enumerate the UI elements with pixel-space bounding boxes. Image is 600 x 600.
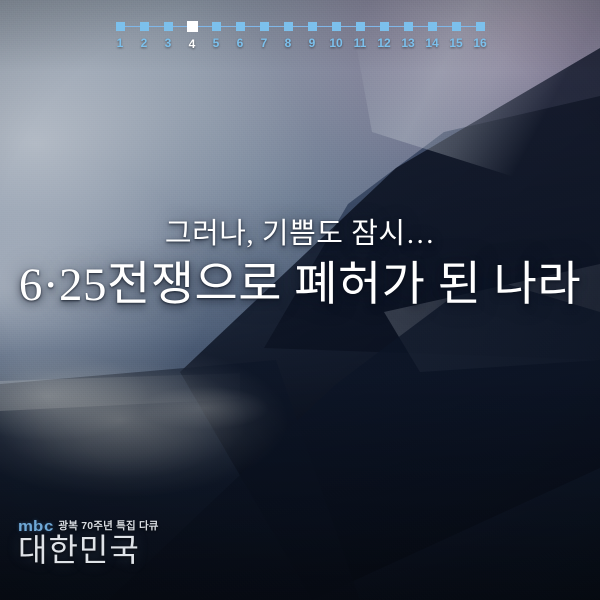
pagination-number: 16	[473, 37, 486, 49]
pagination-number: 5	[213, 37, 220, 49]
pagination-item-1[interactable]: 1	[108, 22, 132, 49]
pagination-item-5[interactable]: 5	[204, 22, 228, 49]
pagination-number: 4	[189, 38, 196, 50]
headline-title: 6·25전쟁으로 폐허가 된 나라	[0, 258, 600, 312]
pagination-square-icon	[140, 22, 149, 31]
slide-pagination[interactable]: 12345678910111213141516	[0, 22, 600, 50]
pagination-item-2[interactable]: 2	[132, 22, 156, 49]
pagination-number: 11	[354, 37, 367, 49]
pagination-number: 3	[165, 37, 172, 49]
pagination-item-8[interactable]: 8	[276, 22, 300, 49]
pagination-square-icon	[212, 22, 221, 31]
mbc-logo-icon: mbc	[18, 521, 51, 532]
pagination-item-7[interactable]: 7	[252, 22, 276, 49]
pagination-number: 13	[401, 37, 414, 49]
headline-block: 그러나, 기쁨도 잠시… 6·25전쟁으로 폐허가 된 나라	[0, 216, 600, 312]
pagination-number: 8	[285, 37, 292, 49]
pagination-item-4[interactable]: 4	[180, 22, 204, 50]
pagination-number: 6	[237, 37, 244, 49]
pagination-item-3[interactable]: 3	[156, 22, 180, 49]
pagination-number: 1	[117, 37, 124, 49]
pagination-square-icon	[428, 22, 437, 31]
pagination-square-icon	[308, 22, 317, 31]
pagination-number: 7	[261, 37, 268, 49]
pagination-square-icon	[476, 22, 485, 31]
pagination-square-icon	[380, 22, 389, 31]
brand-tagline: 광복 70주년 특집 다큐	[58, 521, 158, 532]
pagination-square-icon	[452, 22, 461, 31]
pagination-track: 12345678910111213141516	[108, 22, 492, 50]
pagination-item-10[interactable]: 10	[324, 22, 348, 49]
pagination-number: 2	[141, 37, 148, 49]
brand-top-row: mbc 광복 70주년 특집 다큐	[18, 521, 159, 532]
pagination-number: 12	[377, 37, 390, 49]
pagination-item-13[interactable]: 13	[396, 22, 420, 49]
pagination-square-icon	[260, 22, 269, 31]
mbc-letter-c: c	[44, 521, 53, 532]
mbc-letter-b: b	[33, 521, 43, 532]
pagination-item-9[interactable]: 9	[300, 22, 324, 49]
pagination-square-icon	[164, 22, 173, 31]
pagination-square-icon	[404, 22, 413, 31]
pagination-square-icon	[236, 22, 245, 31]
pagination-item-15[interactable]: 15	[444, 22, 468, 49]
headline-subtitle: 그러나, 기쁨도 잠시…	[0, 216, 600, 252]
pagination-square-icon	[187, 21, 198, 32]
program-title: 대한민국	[18, 534, 159, 568]
pagination-item-12[interactable]: 12	[372, 22, 396, 49]
pagination-item-16[interactable]: 16	[468, 22, 492, 49]
pagination-item-11[interactable]: 11	[348, 22, 372, 49]
slide-card: 12345678910111213141516 그러나, 기쁨도 잠시… 6·2…	[0, 0, 600, 600]
pagination-square-icon	[332, 22, 341, 31]
pagination-square-icon	[284, 22, 293, 31]
pagination-number: 15	[449, 37, 462, 49]
pagination-square-icon	[116, 22, 125, 31]
pagination-item-14[interactable]: 14	[420, 22, 444, 49]
pagination-number: 10	[329, 37, 342, 49]
pagination-number: 14	[425, 37, 438, 49]
brand-lockup: mbc 광복 70주년 특집 다큐 대한민국	[18, 521, 159, 568]
pagination-number: 9	[309, 37, 316, 49]
pagination-square-icon	[356, 22, 365, 31]
pagination-item-6[interactable]: 6	[228, 22, 252, 49]
mbc-letter-m: m	[18, 521, 32, 532]
